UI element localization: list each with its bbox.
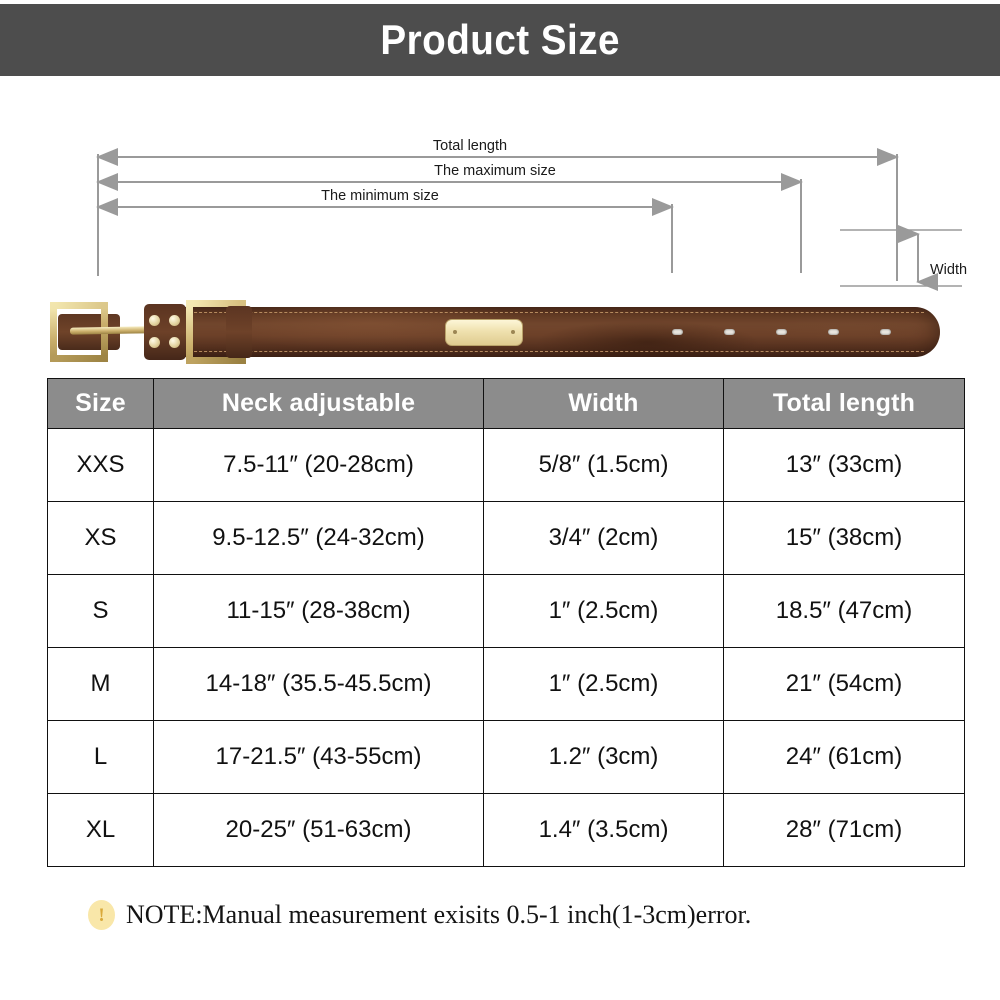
dog-collar-illustration (40, 226, 930, 316)
table-row: S 11-15″ (28-38cm) 1″ (2.5cm) 18.5″ (47c… (48, 575, 965, 648)
cell-neck: 17-21.5″ (43-55cm) (154, 721, 484, 794)
cell-total: 18.5″ (47cm) (724, 575, 965, 648)
plate-screw (453, 330, 457, 334)
cell-neck: 9.5-12.5″ (24-32cm) (154, 502, 484, 575)
cell-total: 24″ (61cm) (724, 721, 965, 794)
column-header-total: Total length (724, 379, 965, 429)
punch-hole (828, 329, 839, 335)
cell-size: XL (48, 794, 154, 867)
cell-size: S (48, 575, 154, 648)
cell-size: M (48, 648, 154, 721)
leather-texture (170, 307, 940, 357)
name-plate (445, 319, 523, 346)
cell-size: XXS (48, 429, 154, 502)
rivet (169, 315, 180, 326)
table-row: XS 9.5-12.5″ (24-32cm) 3/4″ (2cm) 15″ (3… (48, 502, 965, 575)
table-row: L 17-21.5″ (43-55cm) 1.2″ (3cm) 24″ (61c… (48, 721, 965, 794)
table-row: M 14-18″ (35.5-45.5cm) 1″ (2.5cm) 21″ (5… (48, 648, 965, 721)
table-header: Size Neck adjustable Width Total length (48, 379, 965, 429)
punch-hole (880, 329, 891, 335)
collar-strap (170, 307, 940, 357)
product-dimension-diagram: Total length The maximum size The minimu… (0, 76, 1000, 366)
d-ring-leather-loop (226, 306, 252, 358)
rivet (149, 315, 160, 326)
leather-keeper (144, 304, 186, 360)
page-title: Product Size (380, 16, 620, 64)
table-header-row: Size Neck adjustable Width Total length (48, 379, 965, 429)
size-chart-table: Size Neck adjustable Width Total length … (47, 378, 965, 867)
cell-width: 1″ (2.5cm) (484, 575, 724, 648)
punch-hole (672, 329, 683, 335)
cell-neck: 14-18″ (35.5-45.5cm) (154, 648, 484, 721)
cell-width: 3/4″ (2cm) (484, 502, 724, 575)
cell-total: 13″ (33cm) (724, 429, 965, 502)
punch-hole (724, 329, 735, 335)
column-header-width: Width (484, 379, 724, 429)
punch-hole (776, 329, 787, 335)
column-header-neck: Neck adjustable (154, 379, 484, 429)
buckle-prong-icon (70, 326, 148, 334)
cell-size: L (48, 721, 154, 794)
cell-width: 1″ (2.5cm) (484, 648, 724, 721)
stitch-line-top (174, 312, 924, 313)
note-row: ! NOTE:Manual measurement exisits 0.5-1 … (88, 900, 751, 930)
table-row: XL 20-25″ (51-63cm) 1.4″ (3.5cm) 28″ (71… (48, 794, 965, 867)
cell-total: 28″ (71cm) (724, 794, 965, 867)
cell-total: 21″ (54cm) (724, 648, 965, 721)
cell-neck: 20-25″ (51-63cm) (154, 794, 484, 867)
cell-width: 1.4″ (3.5cm) (484, 794, 724, 867)
plate-screw (511, 330, 515, 334)
rivet (169, 337, 180, 348)
stitch-line-bottom (174, 351, 924, 352)
header-bar: Product Size (0, 4, 1000, 76)
cell-width: 5/8″ (1.5cm) (484, 429, 724, 502)
rivet (149, 337, 160, 348)
cell-size: XS (48, 502, 154, 575)
cell-total: 15″ (38cm) (724, 502, 965, 575)
exclamation-icon: ! (88, 900, 115, 930)
table-body: XXS 7.5-11″ (20-28cm) 5/8″ (1.5cm) 13″ (… (48, 429, 965, 867)
cell-width: 1.2″ (3cm) (484, 721, 724, 794)
table-row: XXS 7.5-11″ (20-28cm) 5/8″ (1.5cm) 13″ (… (48, 429, 965, 502)
cell-neck: 11-15″ (28-38cm) (154, 575, 484, 648)
column-header-size: Size (48, 379, 154, 429)
cell-neck: 7.5-11″ (20-28cm) (154, 429, 484, 502)
note-text: NOTE:Manual measurement exisits 0.5-1 in… (126, 900, 751, 930)
